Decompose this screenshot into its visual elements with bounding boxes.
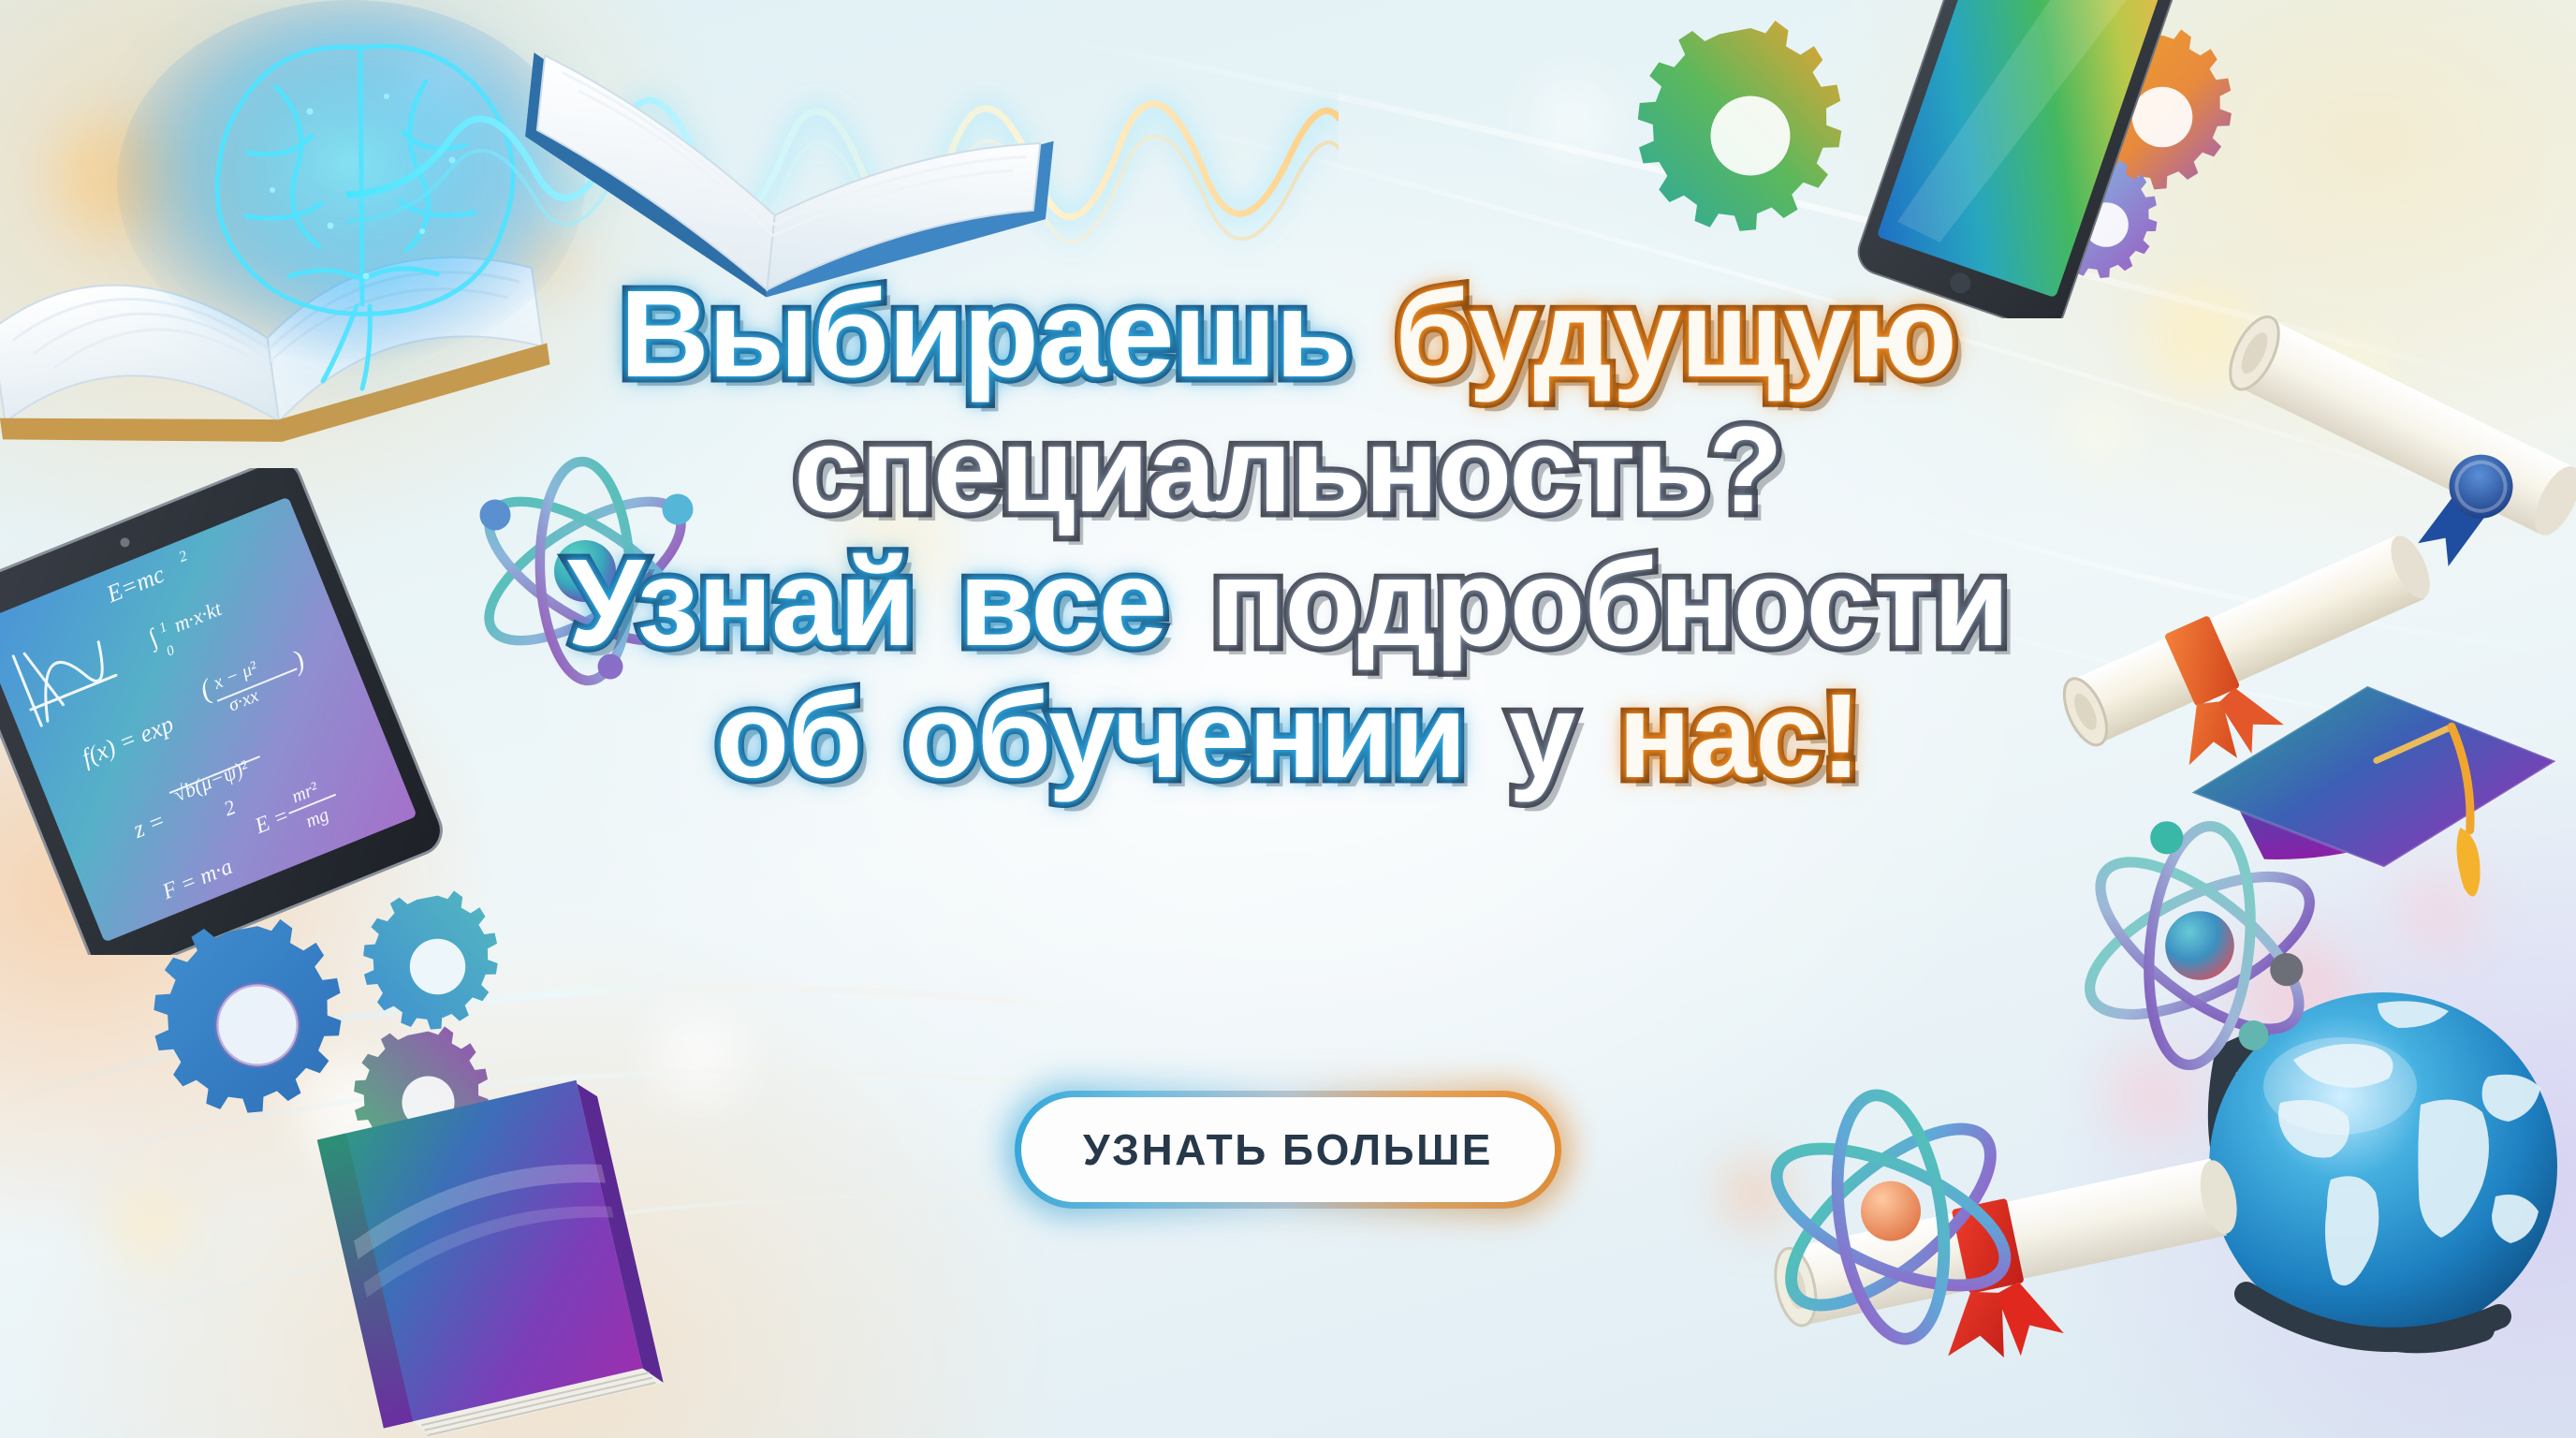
headline-block: Выбираешь будущую специальность? Узнай в…	[0, 271, 2576, 807]
headline-line-3: Узнай все подробности	[0, 540, 2576, 667]
headline-word: все	[953, 540, 1172, 667]
bokeh-dot	[2237, 936, 2359, 1058]
gear-top-right-mid	[2073, 28, 2251, 206]
gear-top-right-small	[2041, 159, 2172, 290]
learn-more-button[interactable]: УЗНАТЬ БОЛЬШЕ	[1021, 1097, 1555, 1202]
svg-text:E =: E =	[251, 803, 293, 839]
headline-line-1: Выбираешь будущую	[0, 271, 2576, 398]
gear-top-right-large	[1633, 19, 1867, 253]
svg-text:mg: mg	[302, 804, 331, 832]
headline-word: подробности	[1206, 540, 2014, 667]
headline-word: об	[710, 676, 867, 799]
education-promo-banner: E=mc2 ∫ 1 0 m·x·kt f(x) = exp ( x − μ² σ…	[0, 0, 2576, 1438]
headline-line-2: специальность?	[0, 407, 2576, 532]
headline-word: Узнай	[562, 540, 919, 667]
headline-line-4: об обучении у нас!	[0, 676, 2576, 799]
svg-text:z =: z =	[128, 806, 168, 844]
headline-word: будущую	[1389, 271, 1961, 398]
bokeh-dot	[56, 122, 168, 234]
bokeh-dot	[1535, 84, 1610, 159]
cta-container: УЗНАТЬ БОЛЬШЕ	[0, 1097, 2576, 1202]
svg-text:F = m·a: F = m·a	[158, 855, 236, 905]
headline-word: специальность?	[788, 407, 1787, 532]
headline-word: нас!	[1613, 676, 1866, 799]
bokeh-dot	[2396, 871, 2481, 955]
bokeh-dot	[655, 1011, 745, 1101]
atom-right-upper	[2045, 796, 2354, 1095]
headline-word: у	[1503, 676, 1580, 799]
headline-word: Выбираешь	[614, 271, 1355, 398]
bokeh-dot	[402, 56, 468, 122]
gear-bottom-left-mid	[360, 889, 515, 1044]
headline-word: обучении	[900, 676, 1471, 799]
bokeh-dot	[599, 131, 642, 174]
